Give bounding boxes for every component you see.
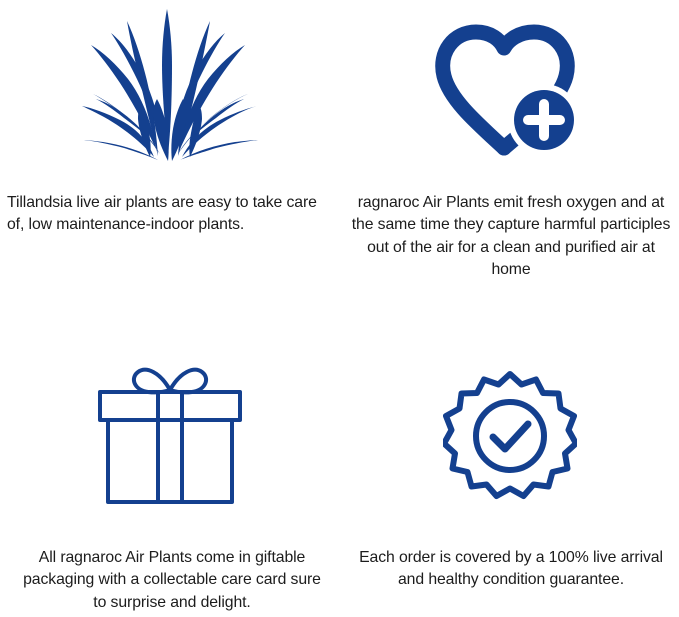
feature-cell-guarantee: Each order is covered by a 100% live arr… bbox=[340, 310, 679, 617]
air-plant-icon-holder bbox=[0, 0, 340, 165]
air-plant-icon bbox=[82, 7, 258, 163]
feature-caption-gift: All ragnaroc Air Plants come in giftable… bbox=[0, 547, 340, 614]
feature-cell-oxygen: ragnaroc Air Plants emit fresh oxygen an… bbox=[340, 0, 679, 310]
gift-box-icon-holder bbox=[0, 310, 340, 505]
feature-caption-guarantee: Each order is covered by a 100% live arr… bbox=[340, 547, 679, 592]
feature-cell-plant: Tillandsia live air plants are easy to t… bbox=[0, 0, 340, 310]
heart-plus-icon bbox=[434, 24, 586, 158]
feature-grid: Tillandsia live air plants are easy to t… bbox=[0, 0, 679, 617]
heart-plus-icon-holder bbox=[340, 0, 679, 165]
feature-cell-gift: All ragnaroc Air Plants come in giftable… bbox=[0, 310, 340, 617]
guarantee-badge-icon bbox=[443, 370, 577, 504]
feature-caption-plant: Tillandsia live air plants are easy to t… bbox=[0, 192, 340, 237]
gift-box-icon bbox=[92, 362, 248, 506]
feature-caption-oxygen: ragnaroc Air Plants emit fresh oxygen an… bbox=[340, 192, 679, 282]
guarantee-badge-icon-holder bbox=[340, 310, 679, 505]
